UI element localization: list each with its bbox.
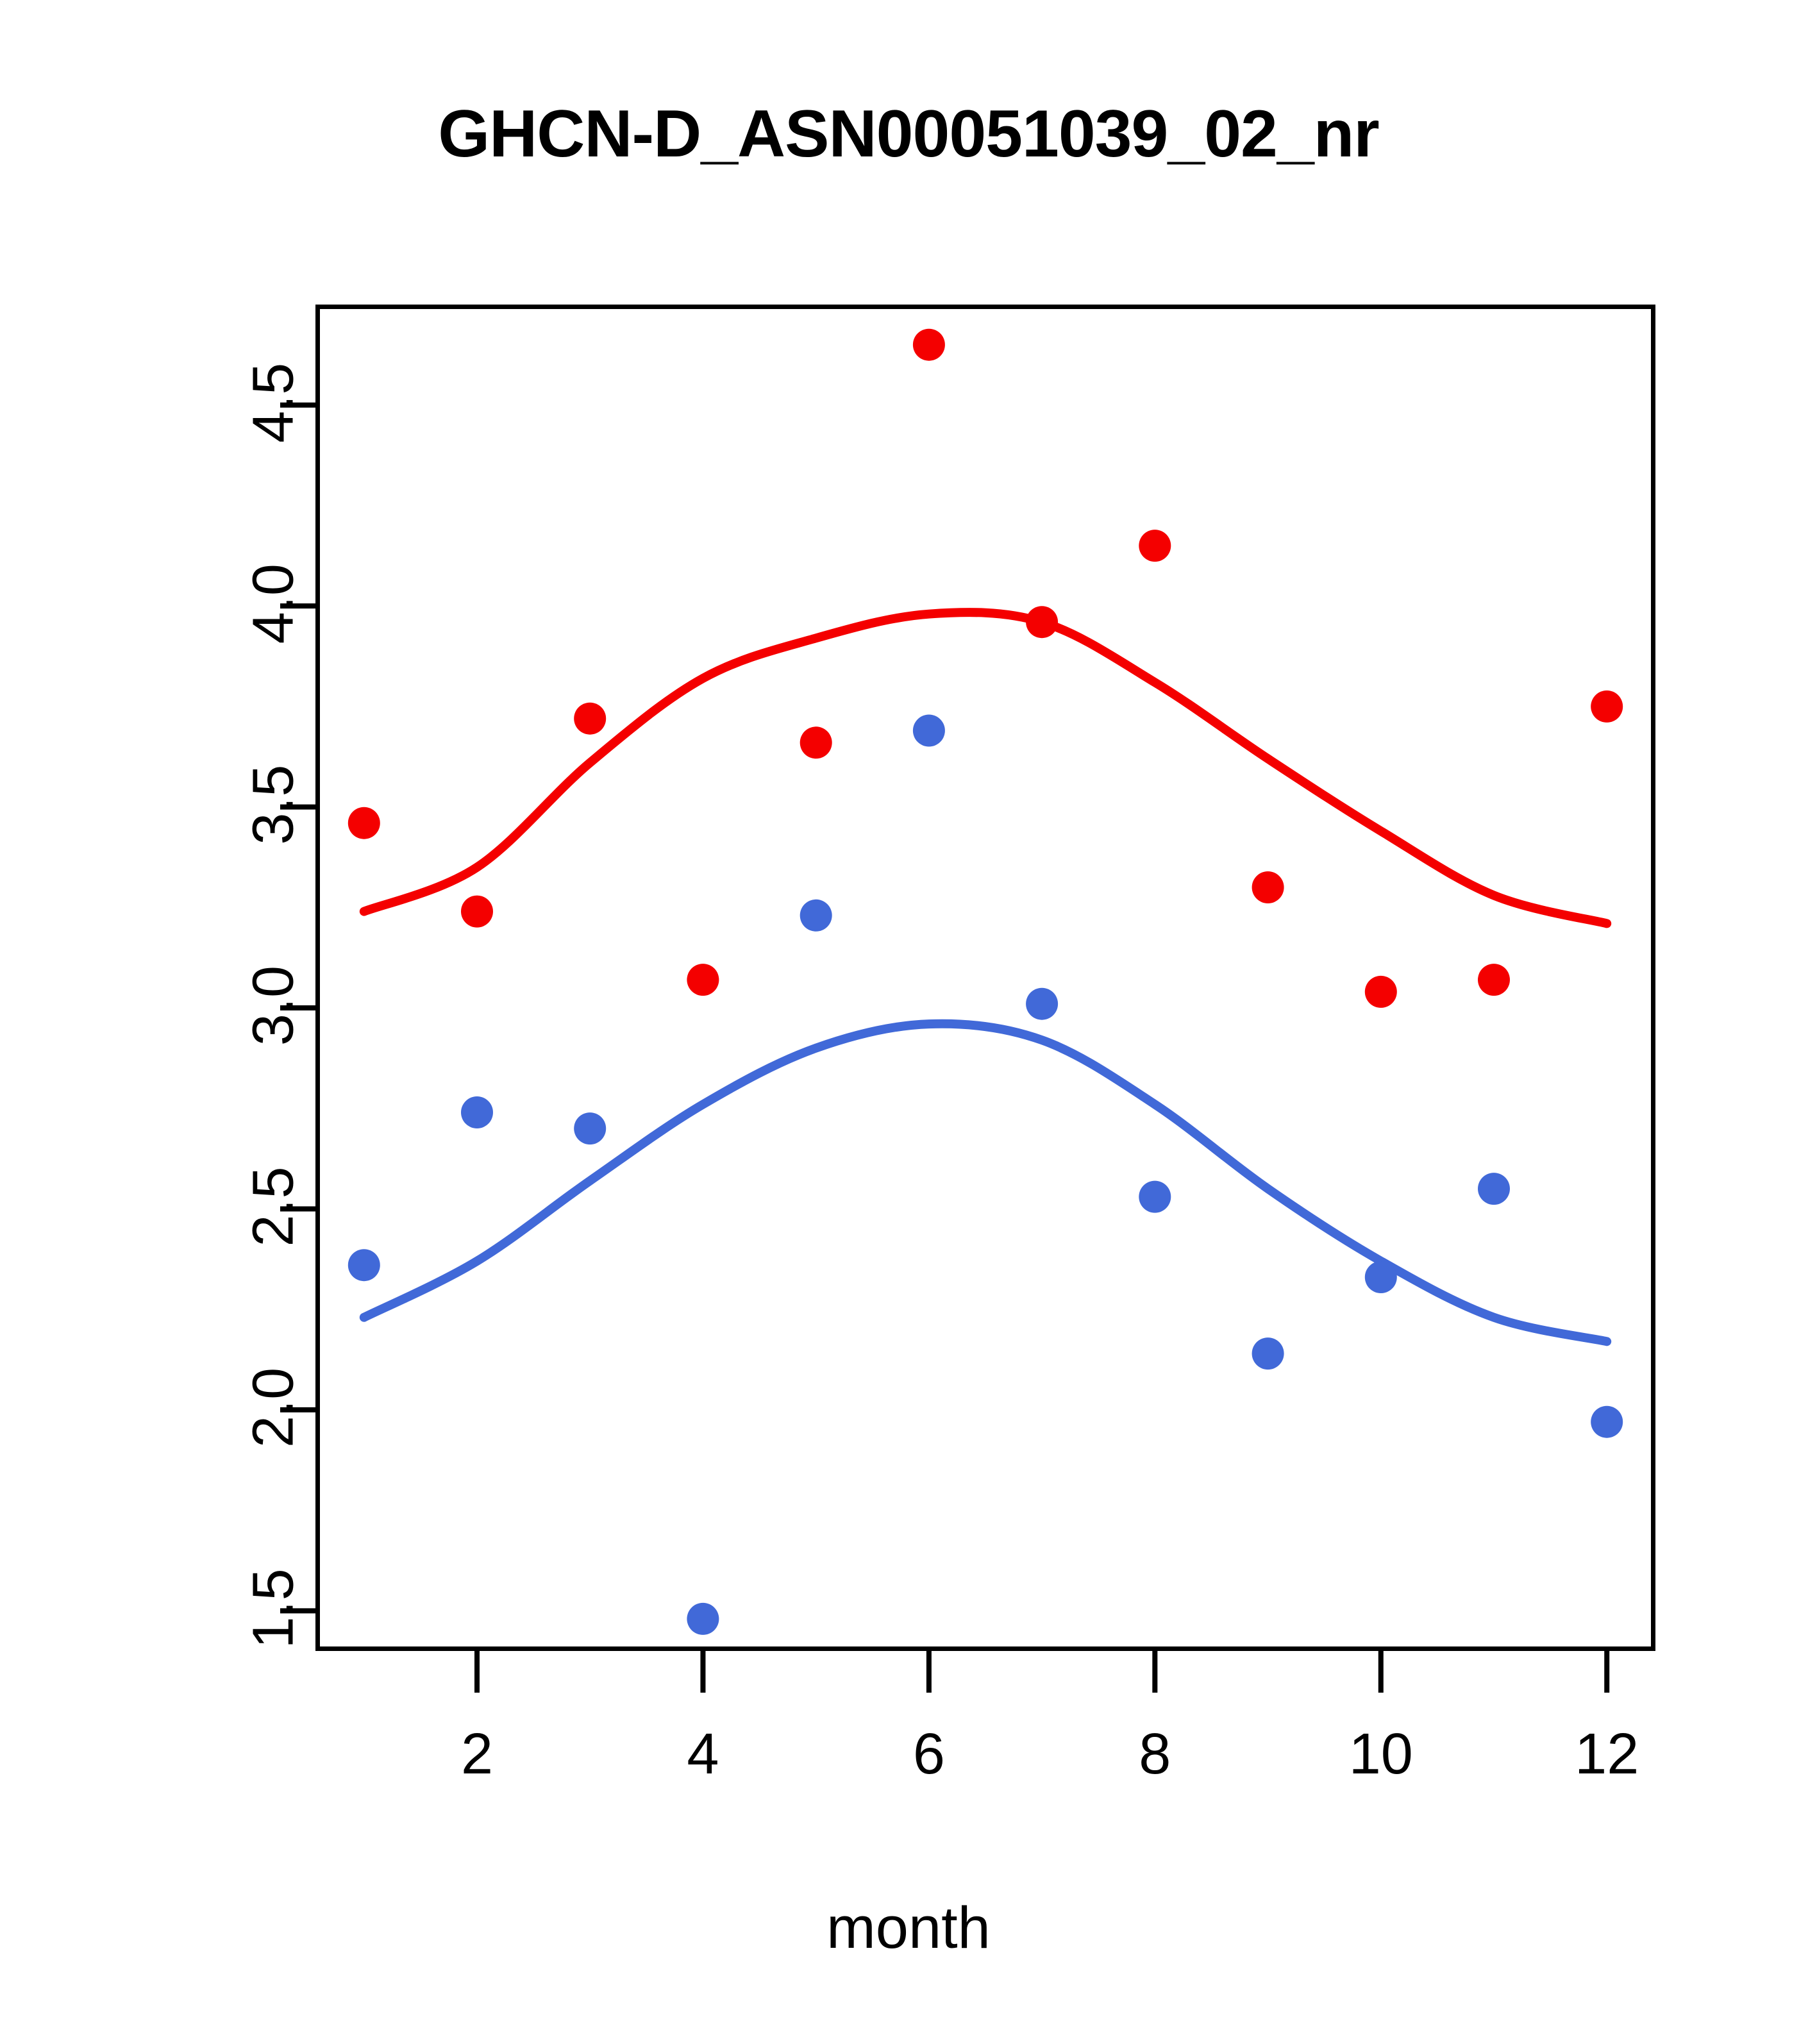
x-tick-label: 10 (1310, 1721, 1452, 1788)
y-tick-label: 3.0 (241, 935, 307, 1076)
y-tick-label: 4.5 (241, 332, 307, 473)
y-tick-label: 4.0 (241, 533, 307, 674)
y-tick-label: 3.5 (241, 734, 307, 875)
x-tick-label: 8 (1084, 1721, 1225, 1788)
plot-frame (315, 305, 1655, 1651)
x-axis-title: month (0, 1895, 1817, 1962)
y-tick-label: 1.5 (241, 1538, 307, 1679)
y-tick-label: 2.5 (241, 1136, 307, 1277)
x-tick-label: 6 (858, 1721, 1000, 1788)
y-tick-label: 2.0 (241, 1337, 307, 1478)
x-tick-label: 12 (1536, 1721, 1677, 1788)
x-tick-label: 4 (632, 1721, 773, 1788)
page-title: GHCN-D_ASN00051039_02_nr (0, 96, 1817, 172)
x-tick-label: 2 (406, 1721, 548, 1788)
chart-page: GHCN-D_ASN00051039_02_nr 1.52.02.53.03.5… (0, 0, 1817, 2044)
